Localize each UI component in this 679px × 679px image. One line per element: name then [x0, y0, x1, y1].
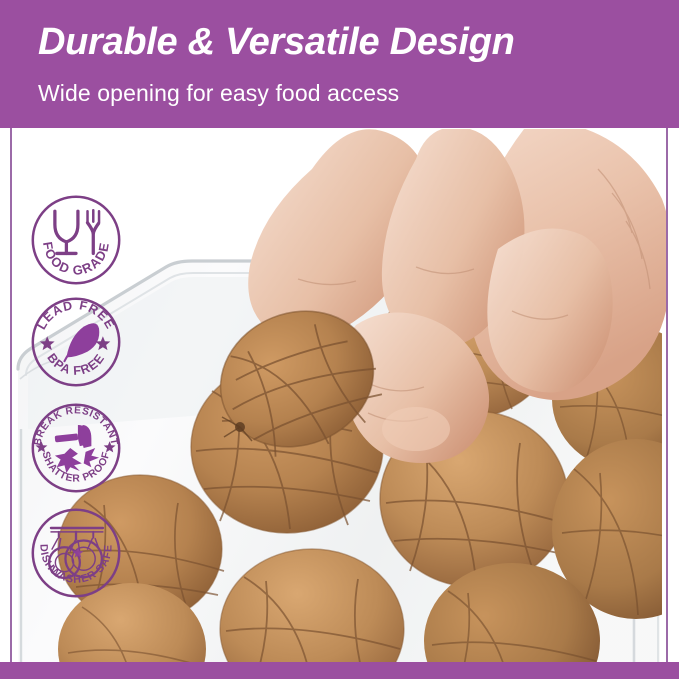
badge-food-grade: FOOD GRADE: [28, 192, 124, 288]
page-title: Durable & Versatile Design: [38, 22, 515, 64]
dish-rack-spray-icon: DISHWASHER SAFE: [28, 505, 124, 601]
header-banner: Durable & Versatile Design Wide opening …: [0, 0, 679, 128]
footer-bar: [0, 662, 679, 679]
hammer-impact-icon: BREAK RESISTANT SHATTER PROOF: [28, 400, 124, 496]
badge-label-top: BREAK RESISTANT: [33, 405, 120, 446]
svg-text:BREAK RESISTANT: BREAK RESISTANT: [33, 405, 120, 446]
svg-text:FOOD GRADE: FOOD GRADE: [40, 240, 112, 277]
badge-label: FOOD GRADE: [40, 240, 112, 277]
page-subtitle: Wide opening for easy food access: [38, 80, 399, 107]
product-feature-image: Durable & Versatile Design Wide opening …: [0, 0, 679, 679]
badge-lead-free-bpa-free: LEAD FREE BPA FREE: [28, 294, 124, 390]
food-grade-icon: FOOD GRADE: [28, 192, 124, 288]
badge-dishwasher-safe: DISHWASHER SAFE: [28, 505, 124, 601]
leaf-icon: LEAD FREE BPA FREE: [28, 294, 124, 390]
frame-left-border: [10, 128, 12, 662]
svg-text:LEAD FREE: LEAD FREE: [34, 298, 117, 332]
badge-label-top: LEAD FREE: [34, 298, 117, 332]
badge-break-resistant: BREAK RESISTANT SHATTER PROOF: [28, 400, 124, 496]
certification-badges: FOOD GRADE LEAD FREE: [28, 192, 140, 612]
frame-right-border: [666, 128, 668, 662]
